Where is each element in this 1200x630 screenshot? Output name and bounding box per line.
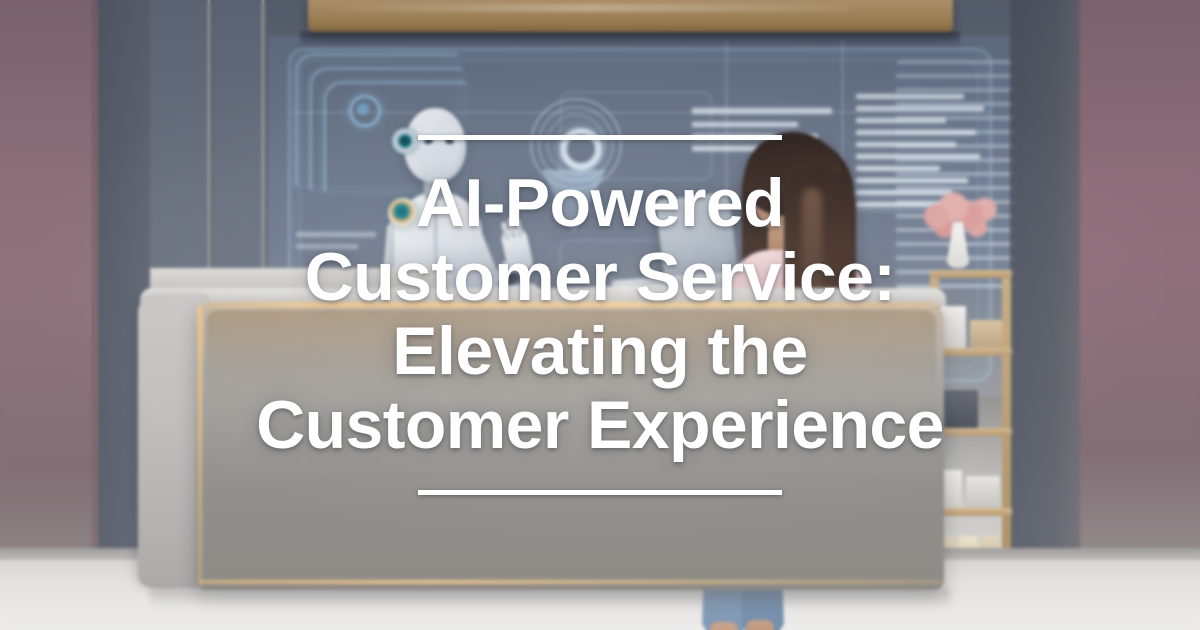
beam-highlight (330, 4, 850, 12)
counter-edge-glow-left (198, 306, 202, 586)
hologram-data-bar (856, 106, 984, 111)
robot-shoulder-joint (388, 198, 418, 228)
blog-header-banner: AI-Powered Customer Service: Elevating t… (0, 0, 1200, 630)
counter-inner-shading (206, 310, 936, 400)
hologram-data-bar (856, 118, 946, 123)
shelf-board (930, 270, 1012, 278)
robot-ear-sensor (392, 128, 418, 154)
woman-ankle-left (710, 622, 738, 630)
wall-panel-left (0, 0, 98, 630)
hologram-data-bar (692, 122, 798, 127)
floor-reflection (150, 588, 950, 608)
woman-ankle-right (746, 620, 774, 630)
hologram-data-bar (692, 108, 832, 114)
hologram-data-bar (856, 94, 964, 99)
counter-edge-glow-top (200, 302, 940, 307)
shelf-box (966, 476, 1000, 508)
beam-shadow (300, 32, 960, 48)
hologram-data-bar (296, 244, 358, 249)
wall-panel-right (1080, 0, 1200, 630)
counter-edge-glow-bottom (200, 580, 942, 584)
robot-face (418, 122, 460, 178)
shelf-box (970, 320, 1002, 348)
shelf-box (938, 390, 978, 428)
